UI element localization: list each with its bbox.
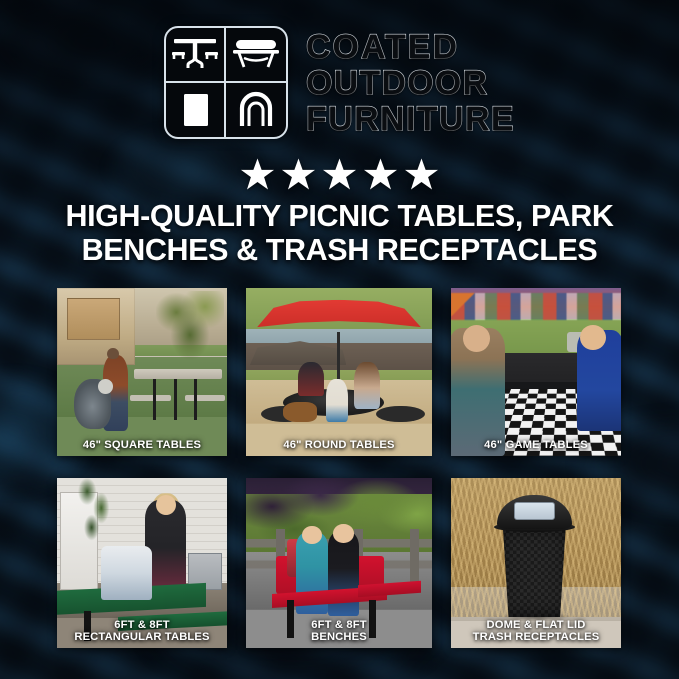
product-caption: 46" SQUARE TABLES — [57, 439, 227, 452]
brand-logo: COATED OUTDOOR FURNITURE — [0, 26, 679, 139]
product-card-round-tables[interactable]: 46" ROUND TABLES — [246, 288, 432, 456]
bike-rack-icon — [226, 83, 286, 138]
picnic-table-icon — [166, 28, 226, 83]
product-photo-game-tables — [451, 288, 621, 456]
headline-line-1: HIGH-QUALITY PICNIC TABLES, PARK — [22, 200, 657, 234]
product-caption: 6FT & 8FT BENCHES — [246, 619, 432, 644]
product-photo-square-tables — [57, 288, 227, 456]
caption-line-1: 46" ROUND TABLES — [248, 439, 430, 452]
product-photo-round-tables — [246, 288, 432, 456]
star-icon — [323, 158, 356, 190]
product-grid: 46" SQUARE TABLES 46" ROUND TABLES 46" G… — [57, 288, 623, 648]
product-card-benches[interactable]: 6FT & 8FT BENCHES — [246, 478, 432, 648]
wordmark-line-coated: COATED — [306, 30, 515, 65]
wordmark-line-outdoor: OUTDOOR — [306, 66, 515, 101]
star-rating — [0, 158, 679, 190]
star-icon — [282, 158, 315, 190]
product-caption: 46" ROUND TABLES — [246, 439, 432, 452]
caption-line-1: 46" SQUARE TABLES — [59, 439, 225, 452]
caption-line-1: 6FT & 8FT — [248, 619, 430, 632]
product-card-game-tables[interactable]: 46" GAME TABLES — [451, 288, 621, 456]
star-icon — [364, 158, 397, 190]
caption-line-1: 6FT & 8FT — [59, 619, 225, 632]
caption-line-1: 46" GAME TABLES — [453, 439, 619, 452]
product-caption: 6FT & 8FT RECTANGULAR TABLES — [57, 619, 227, 644]
coated-outdoor-furniture-logo-icon — [164, 26, 288, 139]
product-card-rectangular-tables[interactable]: 6FT & 8FT RECTANGULAR TABLES — [57, 478, 227, 648]
product-card-trash-receptacles[interactable]: DOME & FLAT LID TRASH RECEPTACLES — [451, 478, 621, 648]
product-caption: DOME & FLAT LID TRASH RECEPTACLES — [451, 619, 621, 644]
page-title: HIGH-QUALITY PICNIC TABLES, PARK BENCHES… — [22, 200, 657, 267]
trash-receptacle-icon — [166, 83, 226, 138]
caption-line-1: DOME & FLAT LID — [453, 619, 619, 632]
brand-wordmark: COATED OUTDOOR FURNITURE — [306, 28, 515, 137]
caption-line-2: BENCHES — [248, 631, 430, 644]
caption-line-2: TRASH RECEPTACLES — [453, 631, 619, 644]
park-bench-icon — [226, 28, 286, 83]
star-icon — [241, 158, 274, 190]
product-card-square-tables[interactable]: 46" SQUARE TABLES — [57, 288, 227, 456]
product-caption: 46" GAME TABLES — [451, 439, 621, 452]
caption-line-2: RECTANGULAR TABLES — [59, 631, 225, 644]
wordmark-line-furniture: FURNITURE — [306, 102, 515, 137]
banner-content: COATED OUTDOOR FURNITURE HIGH-QUALITY PI… — [0, 0, 679, 679]
star-icon — [405, 158, 438, 190]
headline-line-2: BENCHES & TRASH RECEPTACLES — [22, 234, 657, 268]
